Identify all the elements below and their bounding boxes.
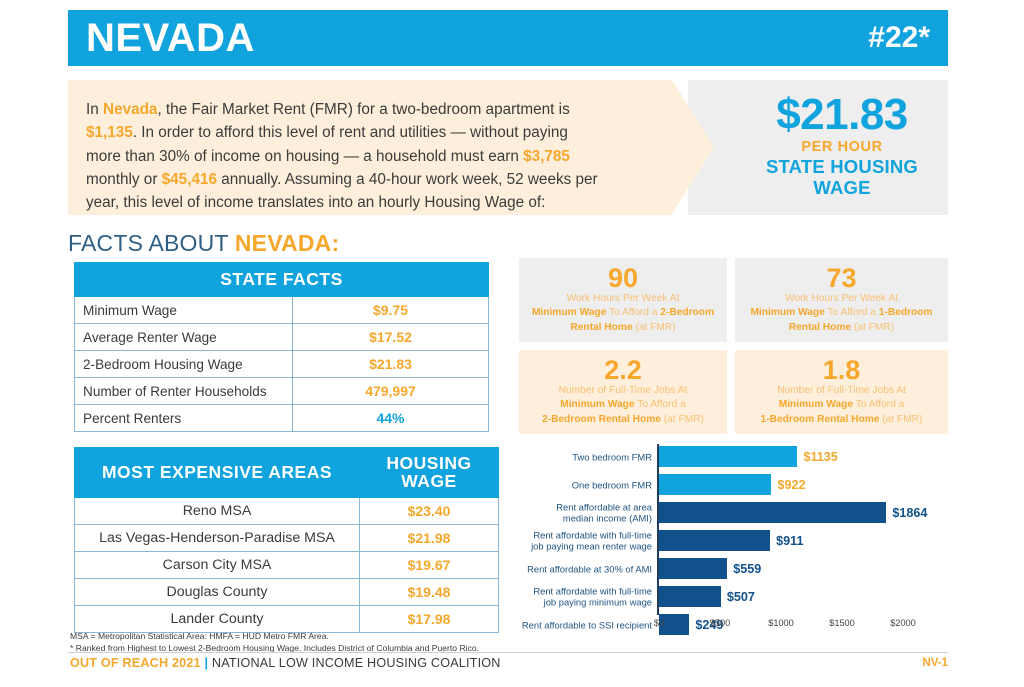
facts-about-heading: FACTS ABOUT NEVADA:: [68, 230, 339, 257]
state-fact-label: Minimum Wage: [75, 297, 293, 324]
state-fact-value: $21.83: [293, 351, 489, 378]
chart-category-label: Rent affordable to SSI recipient: [519, 619, 652, 630]
state-fact-label: Number of Renter Households: [75, 378, 293, 405]
chart-x-tick-label: $1500: [829, 618, 855, 628]
stat-number: 2.2: [527, 356, 719, 384]
state-title: NEVADA: [86, 18, 255, 58]
chart-bar-value-label: $507: [727, 590, 755, 604]
chart-category-label: One bedroom FMR: [519, 479, 652, 490]
intro-band: In Nevada, the Fair Market Rent (FMR) fo…: [68, 80, 948, 215]
state-fact-label: Average Renter Wage: [75, 324, 293, 351]
stat-caption-line: Rental Home (at FMR): [743, 321, 940, 335]
footer-separator: |: [204, 656, 208, 670]
stat-caption-strong: Minimum Wage: [750, 307, 824, 318]
stat-caption-line: Minimum Wage To Afford a 2-Bedroom: [527, 306, 719, 320]
table-header-row: MOST EXPENSIVE AREAS HOUSING WAGE: [75, 448, 499, 498]
stat-caption-text: (at FMR): [851, 322, 894, 333]
expensive-area-housing-wage: $23.40: [360, 497, 499, 524]
stat-caption-strong: 1-Bedroom Rental Home: [761, 414, 880, 425]
stat-caption-text: (at FMR): [879, 414, 922, 425]
most-expensive-areas-body: Reno MSA$23.40Las Vegas-Henderson-Paradi…: [75, 497, 499, 632]
intro-text-0: In: [86, 101, 103, 118]
stat-box-jobs-2-bedroom: 2.2Number of Full-Time Jobs AtMinimum Wa…: [519, 350, 727, 434]
stat-caption-line: Work Hours Per Week At: [527, 292, 719, 306]
header-bar: NEVADA #22*: [68, 10, 948, 66]
expensive-area-name: Carson City MSA: [75, 551, 360, 578]
table-row: Las Vegas-Henderson-Paradise MSA$21.98: [75, 524, 499, 551]
intro-text-6: monthly or: [86, 171, 162, 188]
chart-category-label: Rent affordable with full-timejob paying…: [519, 585, 652, 608]
stat-caption-strong: Minimum Wage: [560, 399, 634, 410]
chart-category-label-line: Two bedroom FMR: [572, 451, 652, 462]
intro-text-4: . In order to afford this level of rent …: [86, 124, 568, 164]
stat-caption-strong: 2-Bedroom Rental Home: [542, 414, 661, 425]
state-facts-table: STATE FACTS Minimum Wage$9.75Average Ren…: [74, 262, 489, 432]
infographic-page: NEVADA #22* In Nevada, the Fair Market R…: [0, 0, 1024, 687]
chart-category-label-line: job paying mean renter wage: [531, 541, 652, 552]
table-row: Average Renter Wage$17.52: [75, 324, 489, 351]
stat-caption-strong: Minimum Wage: [779, 399, 853, 410]
chart-bar-row: Two bedroom FMR$1135: [519, 444, 959, 469]
stat-caption-text: Number of Full-Time Jobs At: [777, 385, 906, 396]
chart-rows: Two bedroom FMR$1135One bedroom FMR$922R…: [519, 444, 959, 637]
expensive-area-name: Lander County: [75, 605, 360, 632]
stat-caption-text: (at FMR): [661, 414, 704, 425]
chart-category-label-line: Rent affordable at 30% of AMI: [527, 563, 652, 574]
intro-text-2: , the Fair Market Rent (FMR) for a two-b…: [157, 101, 569, 118]
state-fact-label: Percent Renters: [75, 405, 293, 432]
stat-caption-strong: Rental Home: [570, 322, 632, 333]
table-row: Minimum Wage$9.75: [75, 297, 489, 324]
chart-bar-row: One bedroom FMR$922: [519, 472, 959, 497]
stat-caption-line: 2-Bedroom Rental Home (at FMR): [527, 413, 719, 427]
housing-wage-amount: $21.83: [736, 92, 948, 138]
facts-heading-state: NEVADA:: [235, 230, 339, 256]
stat-box-work-hours-2-bedroom: 90Work Hours Per Week AtMinimum Wage To …: [519, 258, 727, 342]
chart-category-label-line: Rent affordable to SSI recipient: [522, 619, 652, 630]
table-row: Lander County$17.98: [75, 605, 499, 632]
stat-caption-text: (at FMR): [633, 322, 676, 333]
chart-bar-value-label: $911: [776, 534, 803, 548]
state-fact-value: 479,997: [293, 378, 489, 405]
chart-x-tick-label: $2000: [890, 618, 916, 628]
chart-bar: [659, 474, 771, 495]
stat-caption-line: Minimum Wage To Afford a: [743, 398, 940, 412]
expensive-area-housing-wage: $17.98: [360, 605, 499, 632]
stat-caption-text: Work Hours Per Week At: [785, 293, 898, 304]
stat-caption-line: Minimum Wage To Afford a 1-Bedroom: [743, 306, 940, 320]
housing-wage-label: STATE HOUSING WAGE: [736, 157, 948, 198]
rent-affordability-bar-chart: Two bedroom FMR$1135One bedroom FMR$922R…: [519, 444, 959, 644]
state-fact-value: 44%: [293, 405, 489, 432]
table-row: Reno MSA$23.40: [75, 497, 499, 524]
chart-category-label-line: job paying minimum wage: [544, 597, 652, 608]
chart-bar-value-label: $922: [777, 478, 805, 492]
table-row: Douglas County$19.48: [75, 578, 499, 605]
stat-caption-line: Number of Full-Time Jobs At: [527, 384, 719, 398]
stat-caption-line: Number of Full-Time Jobs At: [743, 384, 940, 398]
chart-category-label-line: Rent affordable at area: [556, 501, 652, 512]
chart-bar: [659, 558, 727, 579]
footnote-line: * Ranked from Highest to Lowest 2-Bedroo…: [70, 642, 670, 654]
table-row: Percent Renters44%: [75, 405, 489, 432]
chart-category-label: Rent affordable at areamedian income (AM…: [519, 501, 652, 524]
stat-caption-text: Work Hours Per Week At: [567, 293, 680, 304]
housing-wage-header-line1: HOUSING: [386, 453, 471, 473]
chart-x-axis-ticks: $0$500$1000$1500$2000: [657, 618, 957, 634]
expensive-area-housing-wage: $19.67: [360, 551, 499, 578]
expensive-area-name: Douglas County: [75, 578, 360, 605]
intro-highlight-1: Nevada: [103, 101, 157, 118]
stat-caption-text: To Afford a: [606, 307, 660, 318]
footnote-line: MSA = Metropolitan Statistical Area: HMF…: [70, 630, 670, 642]
table-row: Carson City MSA$19.67: [75, 551, 499, 578]
intro-highlight-7: $45,416: [162, 171, 217, 188]
table-header-row: STATE FACTS: [75, 263, 489, 297]
expensive-area-housing-wage: $21.98: [360, 524, 499, 551]
chart-category-label-line: median income (AMI): [563, 513, 652, 524]
chart-category-label: Rent affordable with full-timejob paying…: [519, 529, 652, 552]
stat-caption-text: To Afford a: [825, 307, 879, 318]
page-number: NV-1: [922, 657, 948, 669]
state-fact-value: $9.75: [293, 297, 489, 324]
arrow-icon: [672, 80, 714, 214]
table-row: 2-Bedroom Housing Wage$21.83: [75, 351, 489, 378]
stat-caption-text: To Afford a: [853, 399, 904, 410]
housing-wage-header: HOUSING WAGE: [360, 448, 499, 498]
stat-caption-strong: Rental Home: [789, 322, 851, 333]
expensive-area-name: Las Vegas-Henderson-Paradise MSA: [75, 524, 360, 551]
chart-bar-row: Rent affordable at areamedian income (AM…: [519, 500, 959, 525]
stat-number: 90: [527, 264, 719, 292]
stat-caption-strong: 1-Bedroom: [879, 307, 933, 318]
stat-caption-text: Number of Full-Time Jobs At: [559, 385, 688, 396]
stat-caption-line: Rental Home (at FMR): [527, 321, 719, 335]
footer: OUT OF REACH 2021 | NATIONAL LOW INCOME …: [70, 656, 501, 670]
state-facts-body: Minimum Wage$9.75Average Renter Wage$17.…: [75, 297, 489, 432]
chart-x-tick-label: $0: [654, 618, 664, 628]
footer-organization: NATIONAL LOW INCOME HOUSING COALITION: [212, 656, 501, 670]
most-expensive-areas-table: MOST EXPENSIVE AREAS HOUSING WAGE Reno M…: [74, 447, 499, 633]
expensive-area-housing-wage: $19.48: [360, 578, 499, 605]
chart-bar: [659, 446, 797, 467]
chart-category-label: Two bedroom FMR: [519, 451, 652, 462]
stat-caption-line: Work Hours Per Week At: [743, 292, 940, 306]
stat-box-work-hours-1-bedroom: 73Work Hours Per Week AtMinimum Wage To …: [735, 258, 948, 342]
stat-number: 73: [743, 264, 940, 292]
chart-bar-row: Rent affordable at 30% of AMI$559: [519, 556, 959, 581]
chart-bar-value-label: $1864: [892, 506, 927, 520]
chart-category-label: Rent affordable at 30% of AMI: [519, 563, 652, 574]
stat-caption-text: To Afford a: [635, 399, 686, 410]
chart-bar: [659, 502, 886, 523]
stat-caption-strong: 2-Bedroom: [660, 307, 714, 318]
stat-caption-strong: Minimum Wage: [532, 307, 606, 318]
chart-bar-value-label: $1135: [803, 450, 837, 464]
state-fact-value: $17.52: [293, 324, 489, 351]
state-housing-wage-callout: $21.83 PER HOUR STATE HOUSING WAGE: [736, 92, 948, 199]
expensive-areas-header: MOST EXPENSIVE AREAS: [75, 448, 360, 498]
footer-publication: OUT OF REACH 2021: [70, 656, 201, 670]
chart-bar-row: Rent affordable with full-timejob paying…: [519, 528, 959, 553]
stat-box-jobs-1-bedroom: 1.8Number of Full-Time Jobs AtMinimum Wa…: [735, 350, 948, 434]
housing-wage-per-hour: PER HOUR: [736, 139, 948, 155]
chart-bar: [659, 586, 721, 607]
state-rank-badge: #22*: [868, 23, 930, 53]
chart-bar: [659, 530, 770, 551]
facts-heading-prefix: FACTS ABOUT: [68, 230, 235, 256]
chart-category-label-line: One bedroom FMR: [572, 479, 652, 490]
chart-category-label-line: Rent affordable with full-time: [533, 585, 652, 596]
expensive-area-name: Reno MSA: [75, 497, 360, 524]
chart-bar-row: Rent affordable with full-timejob paying…: [519, 584, 959, 609]
footer-divider: [68, 652, 948, 653]
stat-caption-line: 1-Bedroom Rental Home (at FMR): [743, 413, 940, 427]
intro-highlight-5: $3,785: [523, 148, 570, 165]
intro-panel: In Nevada, the Fair Market Rent (FMR) fo…: [68, 80, 672, 215]
chart-x-tick-label: $500: [710, 618, 730, 628]
table-row: Number of Renter Households479,997: [75, 378, 489, 405]
intro-paragraph: In Nevada, the Fair Market Rent (FMR) fo…: [86, 98, 602, 214]
state-facts-header: STATE FACTS: [75, 263, 489, 297]
stat-number: 1.8: [743, 356, 940, 384]
chart-category-label-line: Rent affordable with full-time: [533, 529, 652, 540]
chart-x-tick-label: $1000: [768, 618, 794, 628]
state-fact-label: 2-Bedroom Housing Wage: [75, 351, 293, 378]
intro-highlight-3: $1,135: [86, 124, 133, 141]
stat-caption-line: Minimum Wage To Afford a: [527, 398, 719, 412]
housing-wage-header-line2: WAGE: [401, 471, 456, 491]
chart-bar-value-label: $559: [733, 562, 761, 576]
